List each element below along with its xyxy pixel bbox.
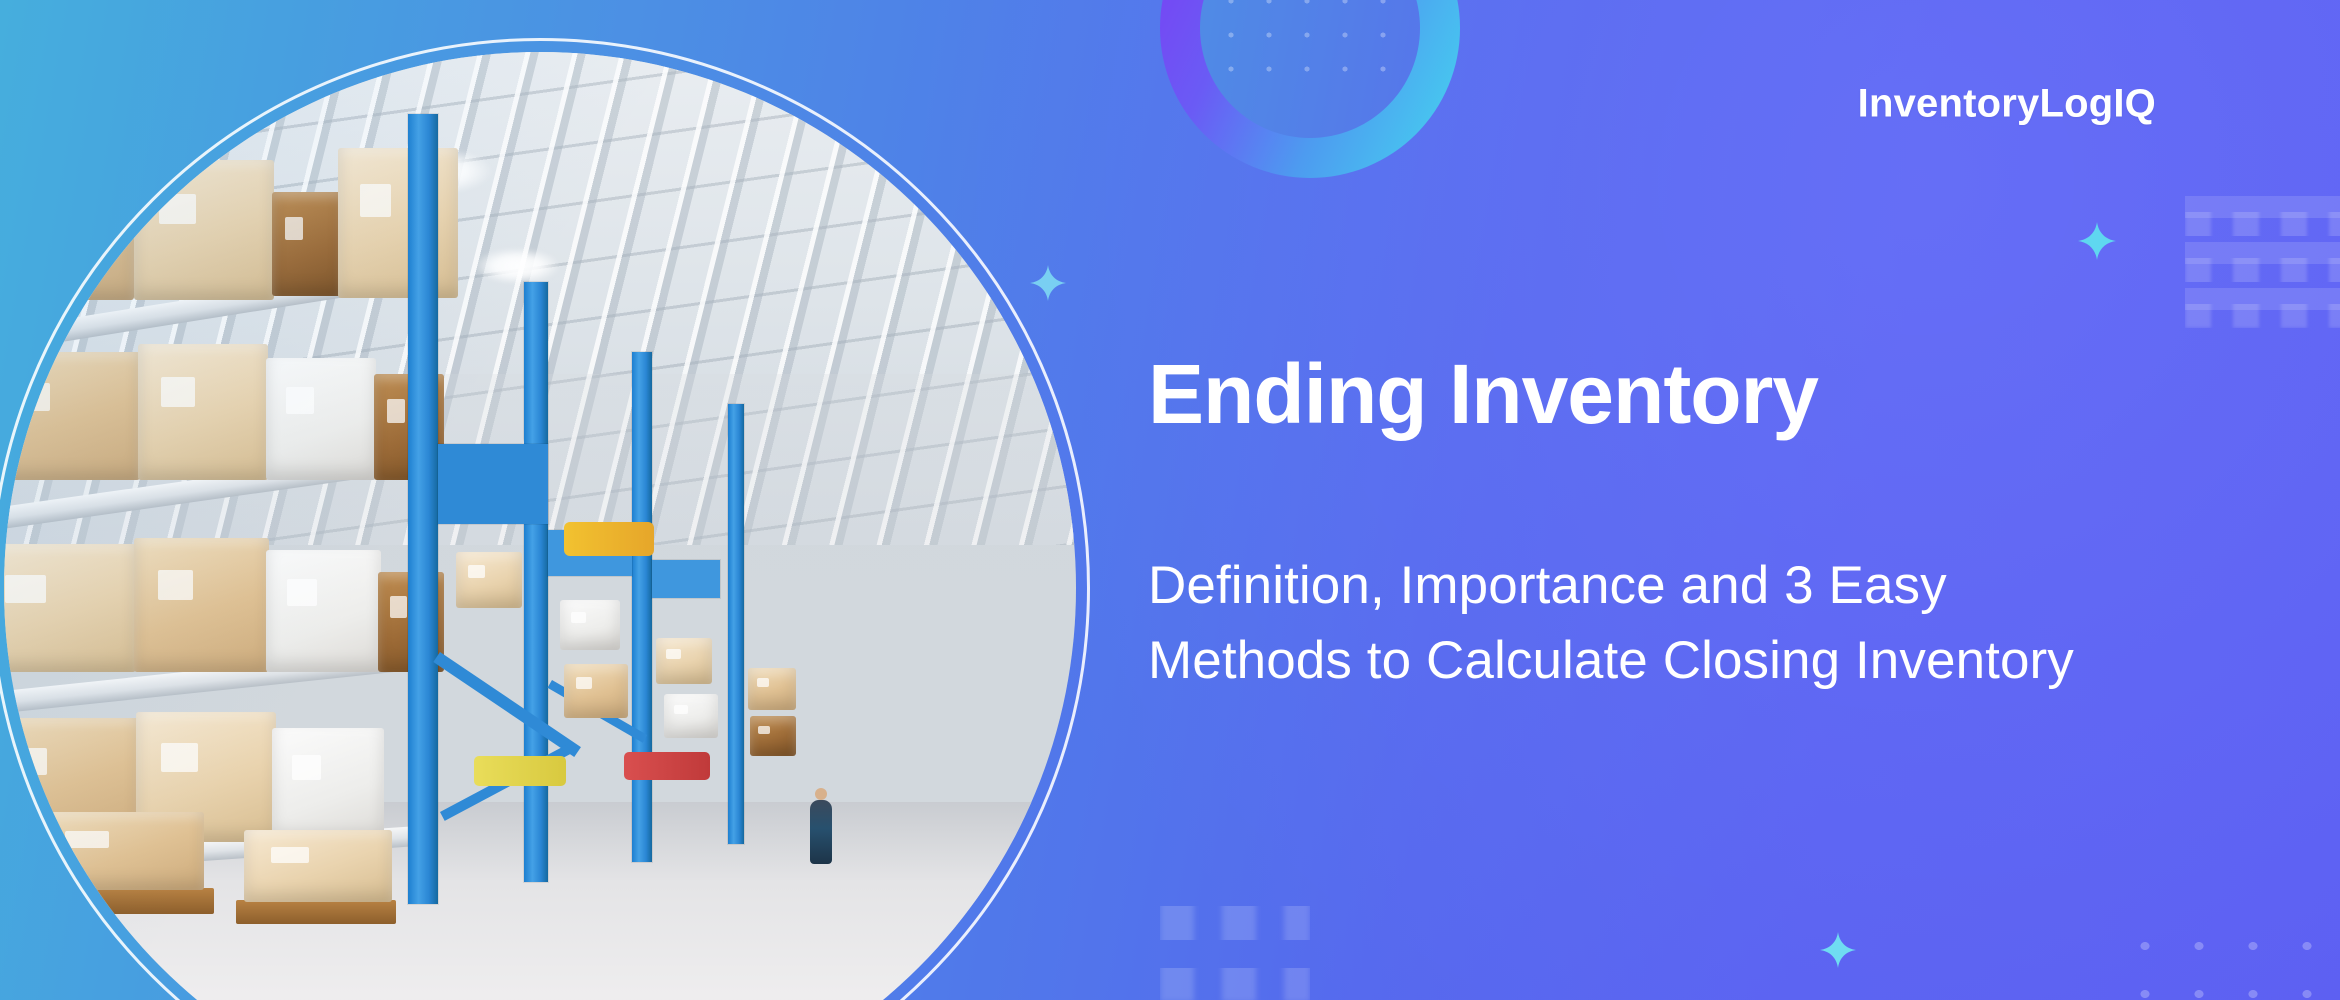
rack-upright bbox=[524, 282, 548, 882]
inventory-box bbox=[244, 830, 392, 902]
brand-logo[interactable]: InventoryLogIQ bbox=[1858, 82, 2156, 127]
pallet bbox=[24, 888, 214, 914]
rack-upright bbox=[632, 352, 652, 862]
inventory-box bbox=[134, 538, 269, 672]
warehouse-illustration bbox=[4, 52, 1076, 1000]
banner-content: InventoryLogIQ Ending Inventory Definiti… bbox=[1148, 0, 2248, 1000]
inventory-box bbox=[456, 552, 522, 608]
warehouse-photo bbox=[0, 38, 1090, 1000]
ceiling-lamp-icon bbox=[474, 248, 560, 284]
hero-banner: InventoryLogIQ Ending Inventory Definiti… bbox=[0, 0, 2340, 1000]
inventory-box bbox=[4, 544, 136, 672]
inventory-box bbox=[34, 812, 204, 890]
rack-upright bbox=[728, 404, 744, 844]
rack-sign-panel bbox=[438, 444, 548, 524]
inventory-box bbox=[564, 664, 628, 718]
pallet bbox=[236, 900, 396, 924]
inventory-box bbox=[338, 148, 458, 298]
goods-accent bbox=[474, 756, 566, 786]
subtitle-line-1: Definition, Importance and 3 Easy bbox=[1148, 548, 2208, 623]
inventory-box bbox=[266, 358, 376, 480]
inventory-box bbox=[664, 694, 718, 738]
subtitle-line-2: Methods to Calculate Closing Inventory bbox=[1148, 623, 2208, 698]
inventory-box bbox=[138, 344, 268, 480]
inventory-box bbox=[4, 352, 140, 480]
page-title: Ending Inventory bbox=[1148, 350, 1818, 438]
inventory-box bbox=[266, 550, 381, 672]
inventory-box bbox=[4, 172, 134, 300]
inventory-box bbox=[272, 192, 342, 296]
page-subtitle: Definition, Importance and 3 Easy Method… bbox=[1148, 548, 2208, 699]
goods-accent bbox=[564, 522, 654, 556]
inventory-box bbox=[748, 668, 796, 710]
inventory-box bbox=[750, 716, 796, 756]
warehouse-worker bbox=[810, 800, 832, 864]
inventory-box bbox=[134, 160, 274, 300]
rack-rail bbox=[652, 560, 720, 598]
photo-circle-mask bbox=[4, 52, 1076, 1000]
inventory-box bbox=[560, 600, 620, 650]
sparkle-star-left-icon bbox=[1030, 265, 1066, 301]
inventory-box bbox=[272, 728, 384, 842]
inventory-box bbox=[656, 638, 712, 684]
rack-upright bbox=[408, 114, 438, 904]
goods-accent bbox=[624, 752, 710, 780]
